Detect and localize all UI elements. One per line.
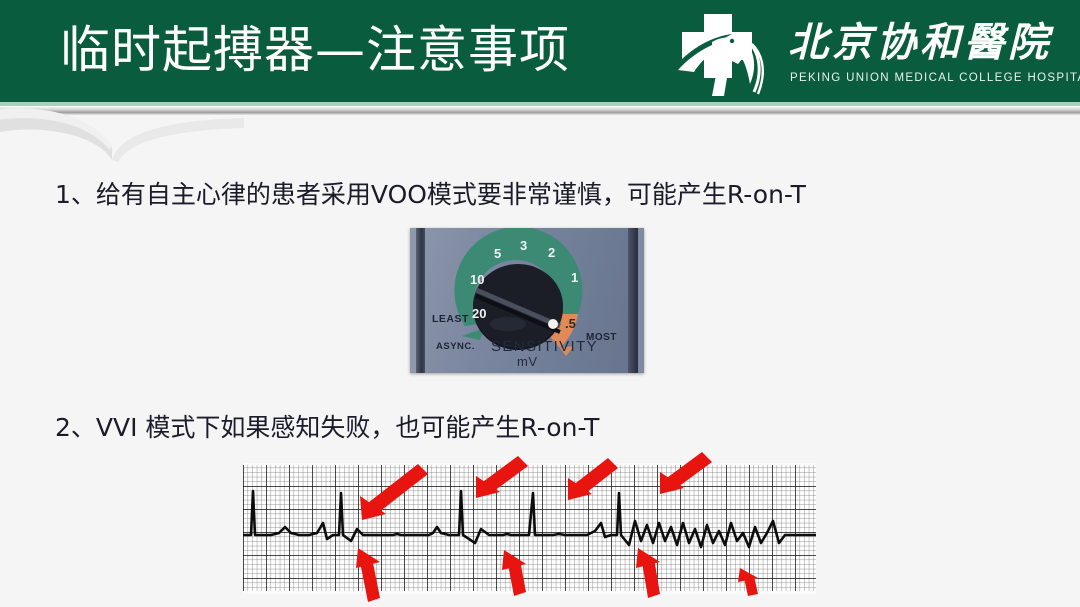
arrow-down-2 <box>476 456 528 498</box>
arrow-up-4 <box>738 568 758 596</box>
dial-caption-unit: mV <box>517 354 538 369</box>
arrow-up-3 <box>636 548 660 598</box>
logo-english-name: PEKING UNION MEDICAL COLLEGE HOSPITAL <box>790 72 1080 84</box>
hospital-cross-crane-icon <box>668 14 780 98</box>
arrow-up-1 <box>356 548 380 602</box>
arrow-down-1 <box>360 464 428 520</box>
dial-value-1: 1 <box>571 270 578 285</box>
dial-value-5: 5 <box>494 246 501 261</box>
slide-root: 临时起搏器—注意事项 北京协和醫院 PEKING UNION MEDICAL C… <box>0 0 1080 607</box>
leaf-decoration-icon <box>0 98 244 166</box>
dial-caption-sensitivity: SENSITIVITY <box>491 338 598 355</box>
pacemaker-sensitivity-dial-image: 20 10 5 3 2 1 .5 LEAST ASYNC. MOST SENSI… <box>410 228 644 373</box>
dial-label-async: ASYNC. <box>436 341 475 352</box>
dial-value-10: 10 <box>470 272 484 287</box>
ecg-annotation-arrows <box>240 452 830 607</box>
dial-value-2: 2 <box>548 245 555 260</box>
page-title: 临时起搏器—注意事项 <box>60 17 570 83</box>
arrow-up-2 <box>502 550 526 596</box>
hospital-logo: 北京协和醫院 PEKING UNION MEDICAL COLLEGE HOSP… <box>668 14 1060 98</box>
arrow-down-3 <box>568 458 618 500</box>
arrow-down-4 <box>660 452 712 494</box>
dial-value-3: 3 <box>520 238 527 253</box>
logo-chinese-name: 北京协和醫院 <box>788 20 1052 66</box>
dial-value-point5: .5 <box>565 316 576 331</box>
bullet-line-2: 2、VVI 模式下如果感知失败，也可能产生R-on-T <box>55 411 599 445</box>
bullet-line-1: 1、给有自主心律的患者采用VOO模式要非常谨慎，可能产生R-on-T <box>55 178 806 212</box>
dial-value-20: 20 <box>472 306 486 321</box>
dial-label-least: LEAST <box>432 313 469 325</box>
